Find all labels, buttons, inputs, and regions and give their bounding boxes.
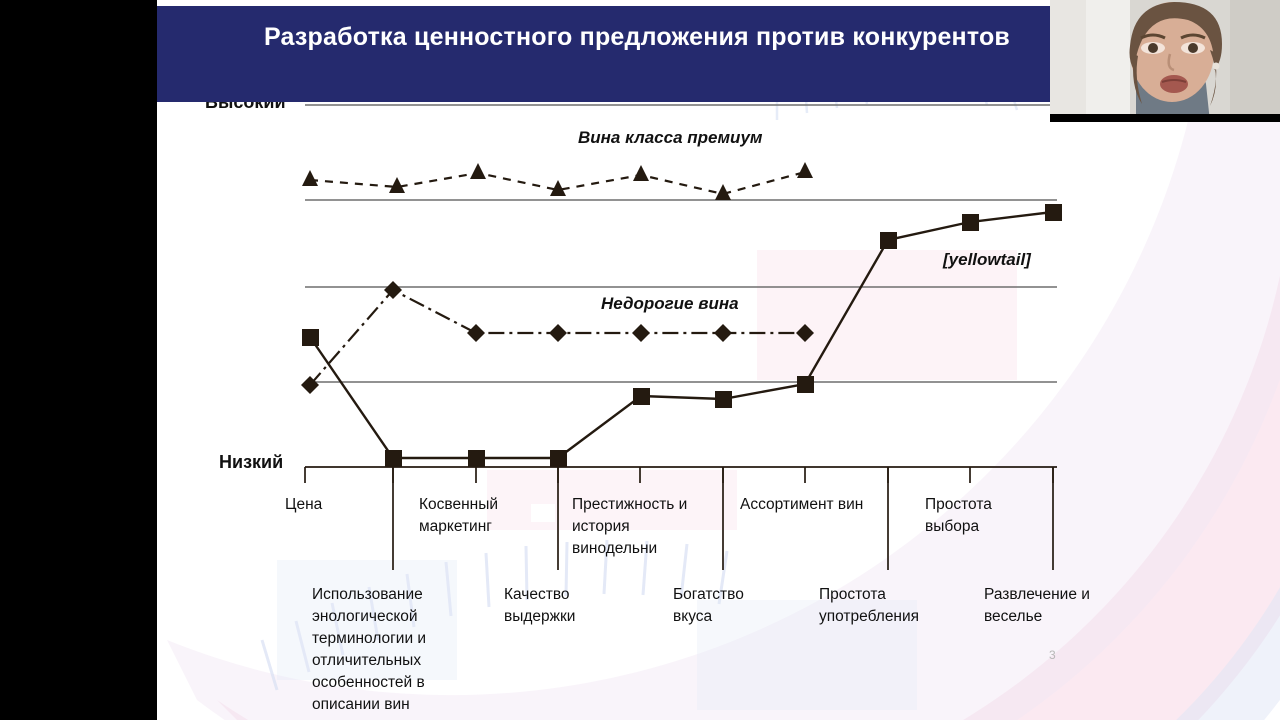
series-label-premium: Вина класса премиум	[578, 128, 762, 148]
series-yellowtail	[302, 204, 1062, 467]
category-label-prestige-history: Престижность и история винодельни	[572, 494, 714, 560]
category-label-ease-of-consumption: Простота употребления	[819, 584, 959, 628]
axis-label-low: Низкий	[219, 452, 283, 473]
category-label-indirect-marketing: Косвенный маркетинг	[419, 494, 537, 538]
category-label-wine-range: Ассортимент вин	[740, 494, 868, 516]
series-label-cheap: Недорогие вина	[601, 294, 739, 314]
slide-number: 3	[1049, 648, 1056, 662]
category-label-enological-terminology: Использование энологической терминологии…	[312, 584, 482, 716]
category-label-price: Цена	[285, 494, 385, 516]
page-title: Разработка ценностного предложения проти…	[217, 20, 1057, 54]
presenter-webcam[interactable]	[1050, 0, 1280, 122]
webcam-video	[1050, 0, 1280, 122]
series-premium-wines	[302, 162, 813, 200]
category-label-ease-of-choice: Простота выбора	[925, 494, 1045, 538]
category-label-aging-quality: Качество выдержки	[504, 584, 624, 628]
series-label-yellowtail: [yellowtail]	[943, 250, 1031, 270]
category-label-fun-and-enjoyment: Развлечение и веселье	[984, 584, 1119, 628]
category-label-taste-richness: Богатство вкуса	[673, 584, 783, 628]
screen: Высокий Низкий Вина класса премиум Недор…	[0, 0, 1280, 720]
